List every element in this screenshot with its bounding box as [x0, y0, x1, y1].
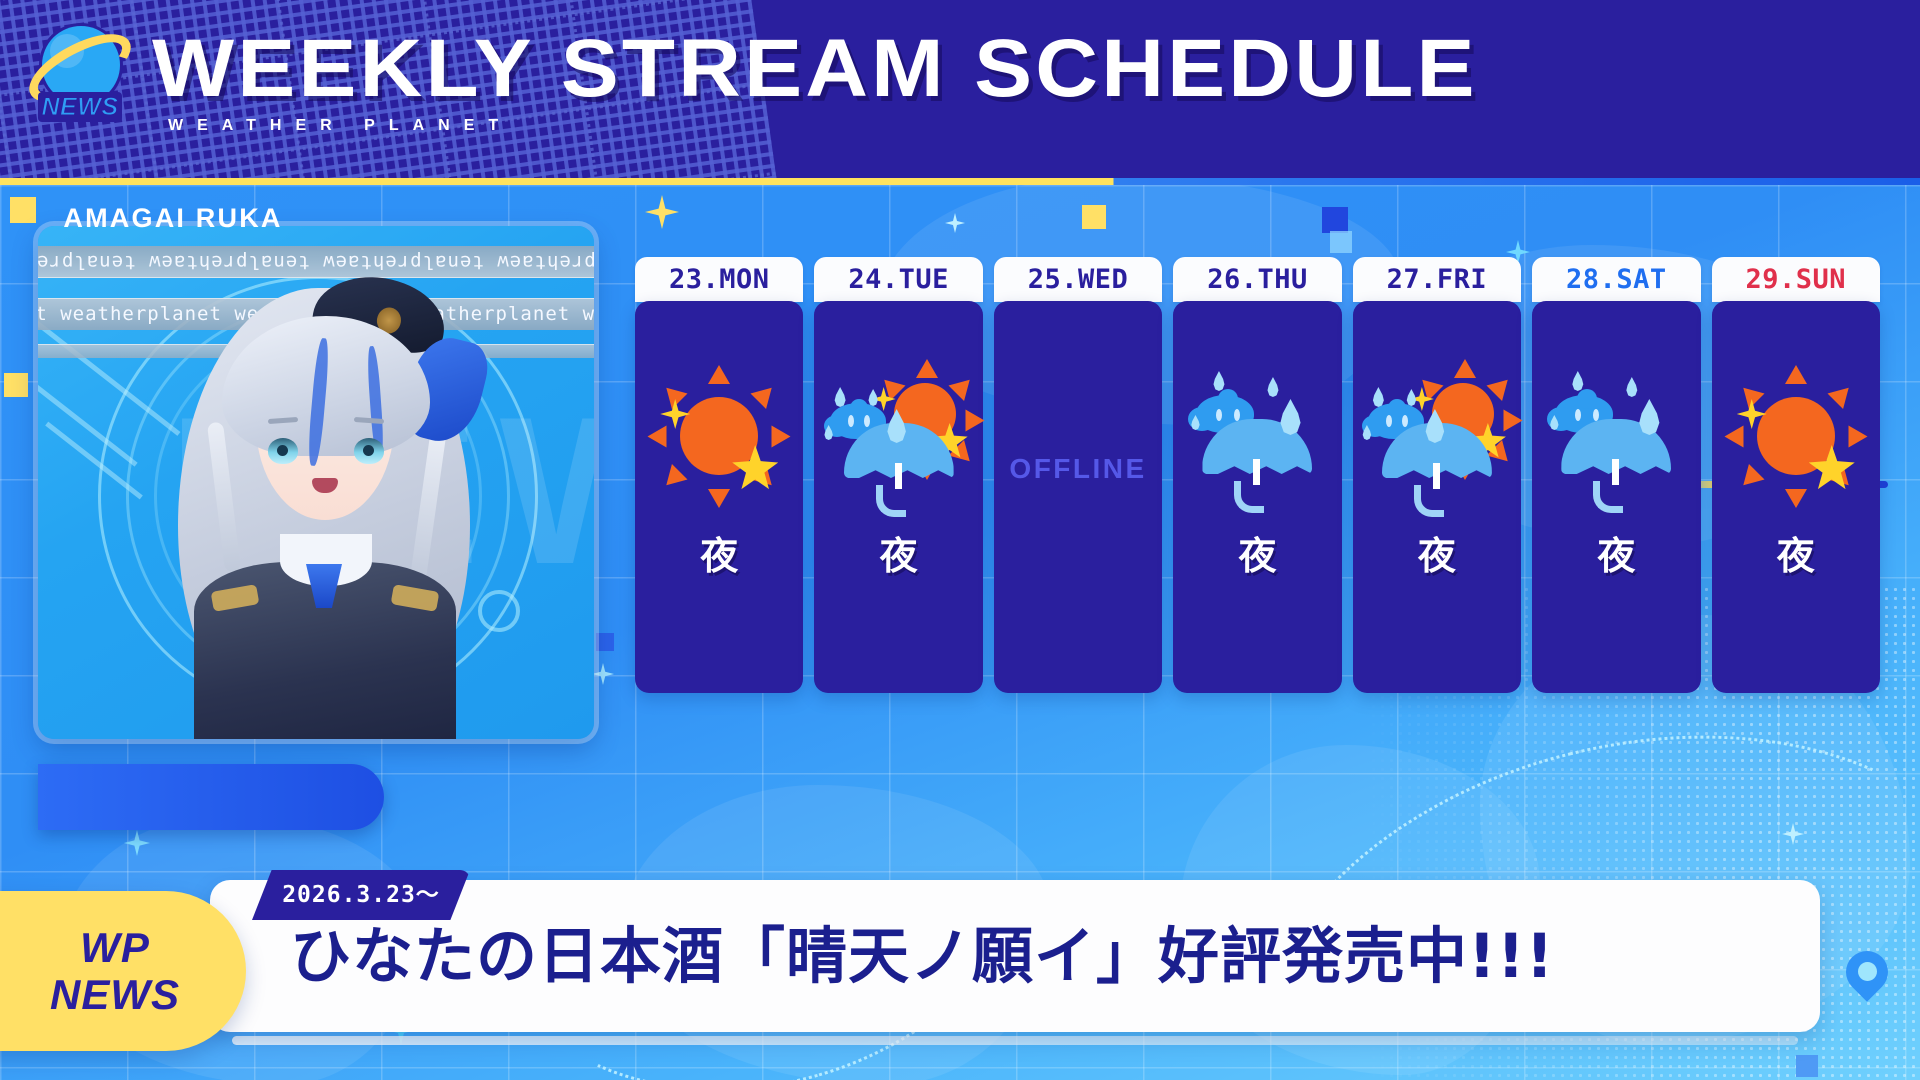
square-decoration	[4, 373, 28, 397]
schedule-card[interactable]: 27.FRI	[1353, 257, 1521, 752]
schedule-card[interactable]: 26.THU	[1173, 257, 1341, 752]
character-portrait-panel: NEWS tenalprehtaew tenalprehtaew tenalpr…	[38, 226, 594, 739]
card-slot-label: 夜	[700, 525, 738, 580]
sun-rain-icon	[824, 361, 974, 511]
map-pin-icon	[1846, 951, 1888, 1005]
card-slot-label: 夜	[880, 525, 918, 580]
card-date-label: 26.THU	[1173, 257, 1341, 302]
square-decoration	[596, 633, 614, 651]
rain-icon	[1541, 361, 1691, 511]
card-body: 夜	[1173, 301, 1341, 693]
schedule-card[interactable]: 29.SUN 夜	[1712, 257, 1880, 752]
rain-icon	[1182, 361, 1332, 511]
character-name-label: AMAGAI RUKA	[0, 185, 346, 251]
card-date-label: 29.SUN	[1712, 257, 1880, 302]
card-date-label: 25.WED	[994, 257, 1162, 302]
card-body: 夜	[814, 301, 982, 693]
wp-badge-line2: NEWS	[50, 971, 180, 1018]
logo-news-label: NEWS	[38, 92, 122, 122]
square-decoration	[1322, 207, 1348, 233]
raindrop-icon	[868, 389, 879, 406]
news-underline-accent	[232, 1036, 1798, 1045]
card-slot-label: 夜	[1597, 525, 1635, 580]
card-body: 夜	[1353, 301, 1521, 693]
page-header: NEWS WEEKLY STREAM SCHEDULE WEATHER PLAN…	[0, 0, 1920, 178]
schedule-card[interactable]: 25.WED OFFLINE	[994, 257, 1162, 752]
card-slot-label: 夜	[1238, 525, 1276, 580]
character-name-tag	[38, 764, 384, 830]
raindrop-icon	[1212, 371, 1225, 391]
wp-badge-line1: WP	[80, 924, 150, 971]
news-headline: ひなたの日本酒「晴天ノ願イ」好評発売中!!!	[290, 907, 1590, 1007]
square-decoration	[1082, 205, 1106, 229]
card-slot-label: 夜	[1777, 525, 1815, 580]
square-decoration	[1330, 231, 1352, 253]
card-date-label: 27.FRI	[1353, 257, 1521, 302]
card-date-label: 23.MON	[635, 257, 803, 302]
card-date-label: 28.SAT	[1532, 257, 1700, 302]
raindrop-icon	[1571, 371, 1584, 391]
schedule-card[interactable]: 23.MON 夜	[635, 257, 803, 752]
page-title: WEEKLY STREAM SCHEDULE	[152, 22, 1478, 116]
raindrop-icon	[1266, 377, 1279, 397]
raindrop-icon	[1625, 377, 1638, 397]
card-body: 夜	[1712, 301, 1880, 693]
sun-icon	[1721, 361, 1871, 511]
character-illustration	[164, 242, 484, 739]
schedule-card-list: 23.MON 夜 24.TUE	[635, 257, 1880, 752]
wp-news-badge-label: WP NEWS	[0, 891, 246, 1051]
card-body: OFFLINE	[994, 301, 1162, 693]
card-date-label: 24.TUE	[814, 257, 982, 302]
page-subtitle: WEATHER PLANET	[168, 117, 512, 135]
raindrop-icon	[1406, 389, 1417, 406]
sun-rain-icon	[1362, 361, 1512, 511]
square-decoration	[1796, 1055, 1818, 1077]
main-content: NEWS tenalprehtaew tenalprehtaew tenalpr…	[0, 185, 1920, 1080]
schedule-card[interactable]: 28.SAT	[1532, 257, 1700, 752]
card-offline-label: OFFLINE	[1009, 453, 1146, 485]
weather-planet-logo: NEWS	[18, 18, 140, 128]
card-slot-label: 夜	[1418, 525, 1456, 580]
schedule-card[interactable]: 24.TUE	[814, 257, 982, 752]
card-body: 夜	[635, 301, 803, 693]
sun-icon	[644, 361, 794, 511]
header-divider	[0, 178, 1920, 185]
card-body: 夜	[1532, 301, 1700, 693]
